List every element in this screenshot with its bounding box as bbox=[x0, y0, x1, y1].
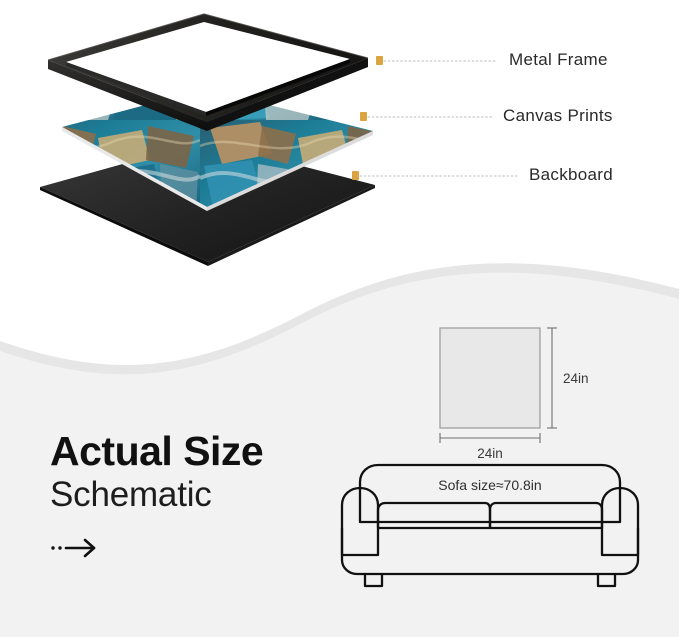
frame-size-square bbox=[440, 328, 540, 428]
callout-label-backboard: Backboard bbox=[529, 165, 613, 185]
page-subtitle: Schematic bbox=[50, 475, 263, 514]
dotted-arrow-right-icon bbox=[50, 536, 110, 560]
callout-label-metal-frame: Metal Frame bbox=[509, 50, 608, 70]
leader-lines bbox=[360, 61, 518, 176]
size-comparison-diagram: 24in 24in bbox=[330, 310, 650, 600]
connector-node-canvas-prints bbox=[360, 112, 367, 121]
connector-node-metal-frame bbox=[376, 56, 383, 65]
sofa-size-label: Sofa size≈70.8in bbox=[438, 477, 541, 493]
page-title: Actual Size bbox=[50, 430, 263, 473]
actual-size-schematic-section: Actual Size Schematic 24in bbox=[0, 255, 679, 637]
dimension-height bbox=[547, 328, 557, 428]
product-infographic: Metal Frame Canvas Prints Backboard Actu… bbox=[0, 0, 679, 637]
callout-label-canvas-prints: Canvas Prints bbox=[503, 106, 613, 126]
connector-node-backboard bbox=[352, 171, 359, 180]
dimension-width-label: 24in bbox=[477, 446, 503, 461]
schematic-text-block: Actual Size Schematic bbox=[50, 430, 263, 565]
dimension-width bbox=[440, 433, 540, 443]
dimension-height-label: 24in bbox=[563, 371, 589, 386]
connector-nodes bbox=[352, 56, 383, 180]
metal-frame-layer bbox=[48, 14, 368, 131]
